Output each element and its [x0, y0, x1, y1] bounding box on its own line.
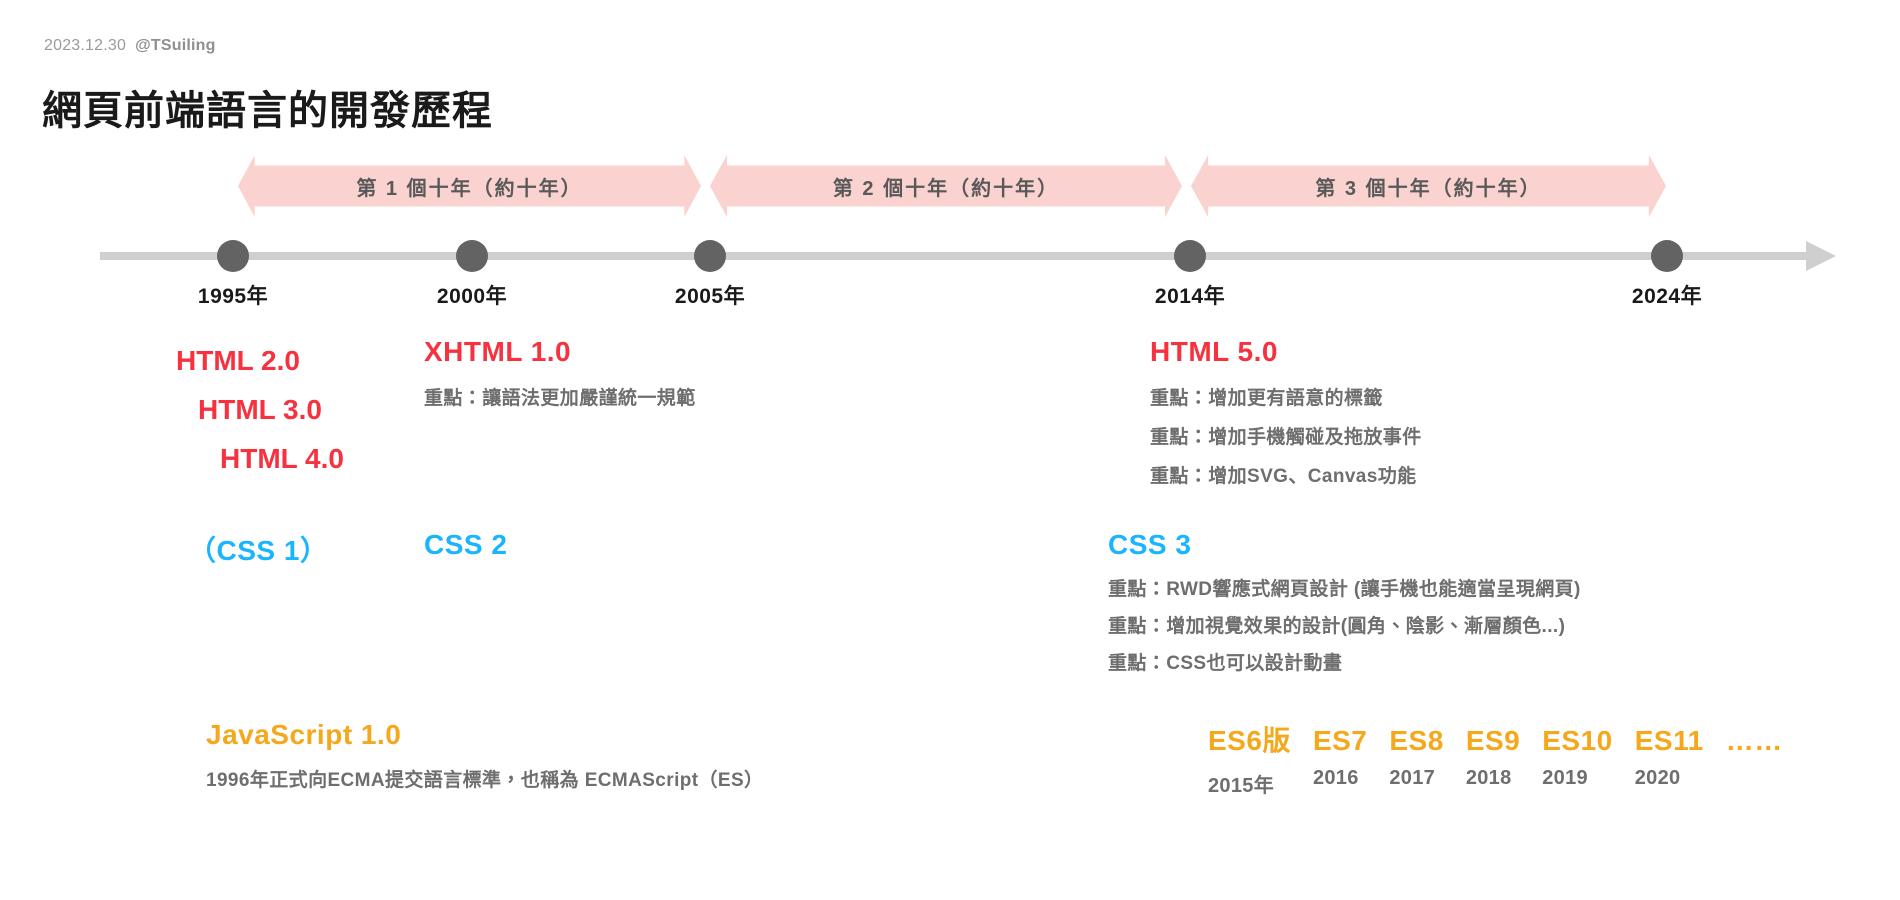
css3-note-1: 重點：RWD響應式網頁設計 (讓手機也能適當呈現網頁): [1108, 571, 1581, 608]
xhtml-note: 重點：讓語法更加嚴謹統一規範: [424, 379, 696, 418]
html5-note-3: 重點：增加SVG、Canvas功能: [1150, 457, 1422, 496]
timeline-year-2005: 2005年: [675, 280, 745, 310]
html5-title: HTML 5.0: [1150, 336, 1422, 368]
css2-title: CSS 2: [424, 529, 507, 561]
html5-note-1: 重點：增加更有語意的標籤: [1150, 379, 1422, 418]
css3-note-2: 重點：增加視覺效果的設計(圓角、陰影、漸層顏色...): [1108, 608, 1581, 645]
es-version-name: ES9: [1466, 725, 1520, 757]
html-version-2: HTML 2.0: [176, 336, 344, 385]
es-version-item: ES10 2019: [1542, 725, 1613, 790]
html5-block: HTML 5.0 重點：增加更有語意的標籤 重點：增加手機觸碰及拖放事件 重點：…: [1150, 336, 1422, 496]
css2-block: CSS 2: [424, 529, 507, 561]
html-version-4: HTML 4.0: [176, 434, 344, 483]
author-handle: @TSuiling: [135, 37, 216, 54]
css3-block: CSS 3 重點：RWD響應式網頁設計 (讓手機也能適當呈現網頁) 重點：增加視…: [1108, 529, 1581, 682]
es-version-name: ……: [1726, 725, 1783, 757]
page-title: 網頁前端語言的開發歷程: [42, 84, 493, 138]
timeline-dot-2014: [1174, 240, 1206, 272]
xhtml-block: XHTML 1.0 重點：讓語法更加嚴謹統一規範: [424, 336, 696, 418]
css1-title: （CSS 1）: [188, 529, 328, 569]
es-version-item: ES7 2016: [1313, 725, 1367, 790]
es-version-year: 2017: [1389, 767, 1443, 790]
timeline-year-2000: 2000年: [437, 280, 507, 310]
timeline-axis: [100, 252, 1812, 260]
html-version-3: HTML 3.0: [176, 385, 344, 434]
javascript-note: 1996年正式向ECMA提交語言標準，也稱為 ECMAScript（ES）: [206, 761, 763, 800]
es-version-name: ES11: [1635, 725, 1704, 757]
javascript-title: JavaScript 1.0: [206, 719, 763, 751]
decade-arrow-1: 第 1 個十年（約十年）: [238, 155, 701, 217]
timeline-dot-2005: [694, 240, 726, 272]
decade-label-2: 第 2 個十年（約十年）: [833, 172, 1059, 201]
es-version-year: 2018: [1466, 767, 1520, 790]
es-version-item: ES11 2020: [1635, 725, 1704, 790]
meta-line: 2023.12.30@TSuiling: [44, 37, 216, 55]
publish-date: 2023.12.30: [44, 37, 126, 54]
es-version-name: ES6版: [1208, 719, 1291, 759]
es-version-year: 2019: [1542, 767, 1613, 790]
css1-block: （CSS 1）: [188, 529, 328, 569]
timeline-dot-1995: [217, 240, 249, 272]
es-version-year: 2015年: [1208, 769, 1291, 798]
es-version-year: 2016: [1313, 767, 1367, 790]
css3-title: CSS 3: [1108, 529, 1581, 561]
es-version-name: ES10: [1542, 725, 1613, 757]
timeline-dot-2024: [1651, 240, 1683, 272]
html-early-versions: HTML 2.0 HTML 3.0 HTML 4.0: [176, 336, 344, 483]
decade-label-1: 第 1 個十年（約十年）: [356, 172, 582, 201]
timeline-dot-2000: [456, 240, 488, 272]
decade-band: 第 1 個十年（約十年） 第 2 個十年（約十年） 第 3 個十年（約十年）: [0, 155, 1900, 217]
es-version-item: ES6版 2015年: [1208, 719, 1291, 798]
es-version-item: ……: [1726, 725, 1783, 767]
timeline-arrowhead-icon: [1806, 241, 1836, 271]
infographic-canvas: 2023.12.30@TSuiling 網頁前端語言的開發歷程 第 1 個十年（…: [0, 0, 1900, 900]
timeline-year-1995: 1995年: [198, 280, 268, 310]
es-version-year: 2020: [1635, 767, 1704, 790]
es-version-item: ES9 2018: [1466, 725, 1520, 790]
css3-note-3: 重點：CSS也可以設計動畫: [1108, 645, 1581, 682]
timeline-year-2024: 2024年: [1632, 280, 1702, 310]
decade-label-3: 第 3 個十年（約十年）: [1315, 172, 1541, 201]
es-version-name: ES7: [1313, 725, 1367, 757]
decade-arrow-3: 第 3 個十年（約十年）: [1191, 155, 1666, 217]
xhtml-title: XHTML 1.0: [424, 336, 696, 368]
html5-note-2: 重點：增加手機觸碰及拖放事件: [1150, 418, 1422, 457]
decade-arrow-2: 第 2 個十年（約十年）: [710, 155, 1182, 217]
es-version-item: ES8 2017: [1389, 725, 1443, 790]
timeline-year-2014: 2014年: [1155, 280, 1225, 310]
javascript-block: JavaScript 1.0 1996年正式向ECMA提交語言標準，也稱為 EC…: [206, 719, 763, 800]
es-version-name: ES8: [1389, 725, 1443, 757]
es-versions-row: ES6版 2015年 ES7 2016 ES8 2017 ES9 2018 ES…: [1208, 719, 1783, 798]
